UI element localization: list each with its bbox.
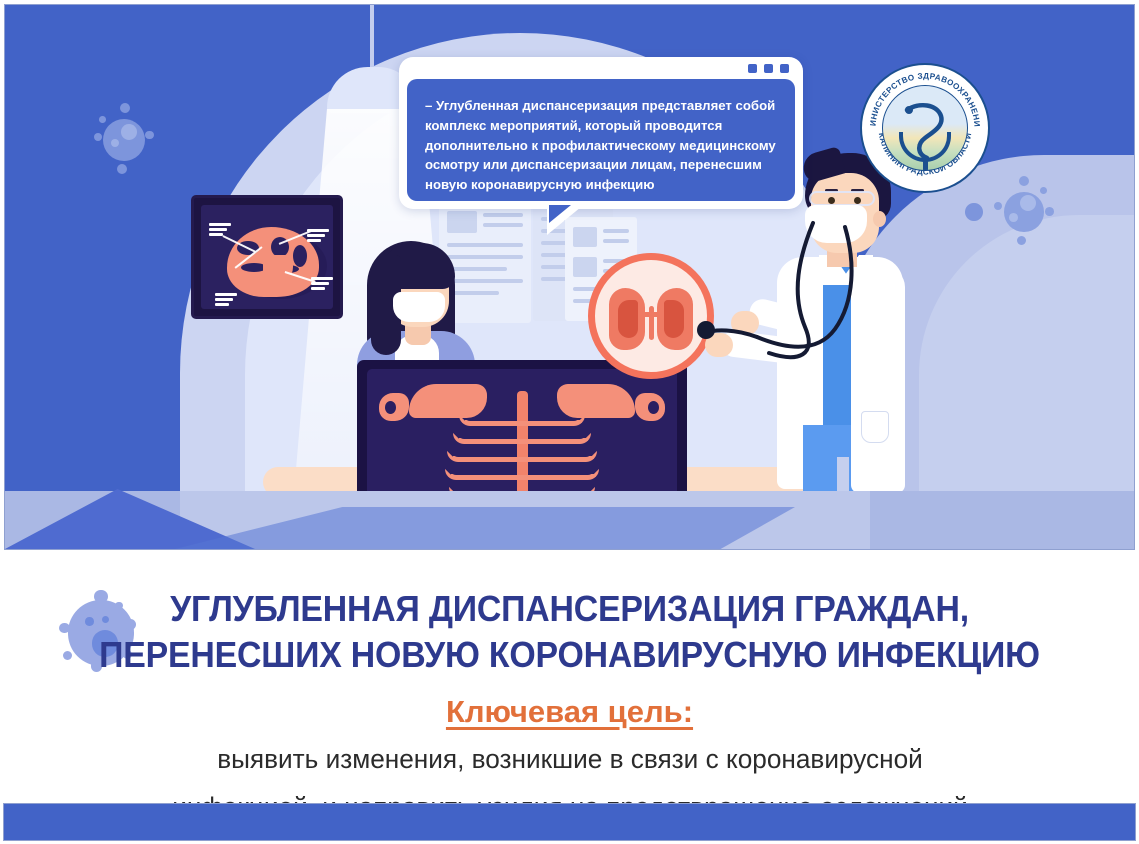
speech-bubble: – Углубленная диспансеризация представля… [399,57,803,209]
page-title-line2: ПЕРЕНЕСШИХ НОВУЮ КОРОНАВИРУСНУЮ ИНФЕКЦИЮ [34,632,1105,678]
rib [453,433,591,444]
clavicle-right [557,384,635,418]
ureter [649,306,654,340]
ministry-logo: МИНИСТЕРСТВО ЗДРАВООХРАНЕНИЯ КАЛИНИНГРАД… [860,63,990,193]
virus-particle-right-large [993,181,1055,243]
stethoscope [695,201,895,381]
key-goal-label: Ключевая цель: [0,694,1139,730]
text-section: УГЛУБЛЕННАЯ ДИСПАНСЕРИЗАЦИЯ ГРАЖДАН, ПЕР… [0,552,1139,808]
virus-particle-left [91,107,157,173]
doctor-coat-pocket [861,411,889,443]
key-goal-text-line1: выявить изменения, возникшие в связи с к… [104,740,1035,778]
kidney-right [657,288,693,350]
brain-scan-monitor [191,195,343,319]
window-dot-icon [748,64,757,73]
speech-bubble-body: – Углубленная диспансеризация представля… [407,79,795,201]
window-dot-icon [780,64,789,73]
speech-bubble-window-dots [748,64,789,73]
patient-face-mask [393,292,445,322]
page-title-line1: УГЛУБЛЕННАЯ ДИСПАНСЕРИЗАЦИЯ ГРАЖДАН, [34,586,1105,632]
speech-bubble-tail-inner [549,205,571,223]
shoulder-left [379,393,409,421]
brain-scan-screen [201,205,333,309]
lamp-cord [370,5,374,75]
snake-icon [903,100,949,170]
kidney-left [609,288,645,350]
clavicle-left [409,384,487,418]
speech-bubble-text: – Углубленная диспансеризация представля… [407,79,795,212]
window-dot-icon [764,64,773,73]
stethoscope-chestpiece [697,321,715,339]
poster-root: – Углубленная диспансеризация представля… [0,0,1139,844]
ministry-logo-emblem [882,85,968,171]
shoulder-right [635,393,665,421]
rib [459,415,585,426]
virus-particle-right-small [963,201,985,223]
rib [447,451,597,462]
title-row: УГЛУБЛЕННАЯ ДИСПАНСЕРИЗАЦИЯ ГРАЖДАН, ПЕР… [0,552,1139,678]
rib [445,469,599,480]
illustration-panel: – Углубленная диспансеризация представля… [4,4,1135,550]
footer-bar [3,803,1136,841]
